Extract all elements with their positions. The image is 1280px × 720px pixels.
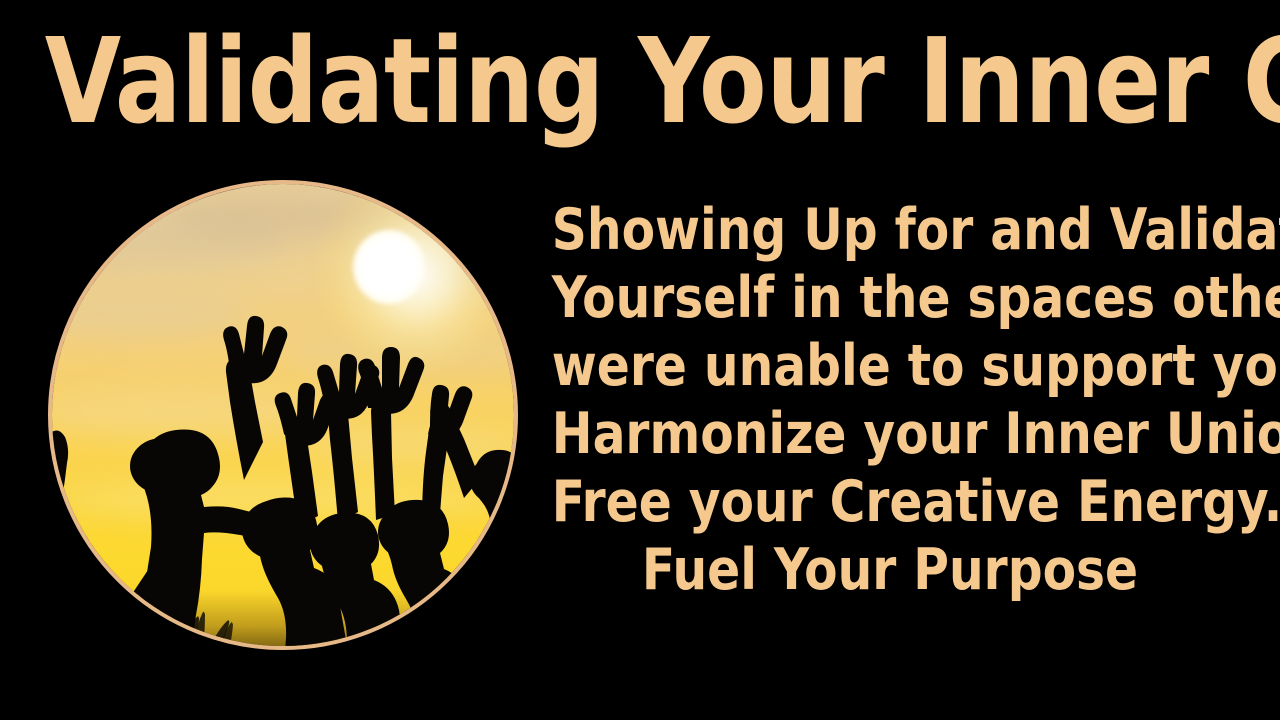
photo-inner [48, 180, 518, 650]
body-line: Showing Up for and Validating [552, 196, 1228, 264]
slide-canvas: Validating Your Inner Child [0, 0, 1280, 720]
body-line: Fuel Your Purpose [552, 536, 1228, 604]
body-line: were unable to support you… [552, 332, 1228, 400]
body-line: Yourself in the spaces others [552, 264, 1228, 332]
children-silhouettes [48, 180, 518, 650]
page-title: Validating Your Inner Child [45, 18, 1235, 144]
body-text-block: Showing Up for and Validating Yourself i… [534, 196, 1246, 604]
body-line: Harmonize your Inner Union. [552, 400, 1228, 468]
body-line: Free your Creative Energy. [552, 468, 1228, 536]
circular-photo [48, 180, 518, 650]
